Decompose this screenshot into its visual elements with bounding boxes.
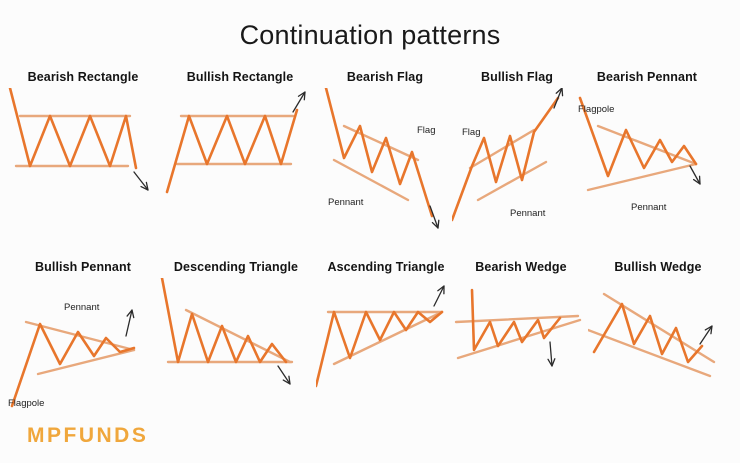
pattern-card-bearish-wedge: Bearish Wedge xyxy=(452,260,590,420)
price-path xyxy=(316,312,442,386)
trendline-descending-resistance xyxy=(186,310,290,362)
pattern-chart-bearish-flag: FlagPennant xyxy=(320,88,450,238)
pattern-chart-ascending-triangle xyxy=(316,278,456,428)
breakout-arrow-up xyxy=(554,88,563,108)
pattern-chart-bearish-wedge xyxy=(452,278,590,428)
pattern-chart-descending-triangle xyxy=(160,278,312,428)
breakout-arrow-up xyxy=(293,92,305,112)
pattern-card-bullish-flag: Bullish Flag FlagPennant xyxy=(452,70,582,230)
pattern-card-bearish-rectangle: Bearish Rectangle xyxy=(8,70,158,230)
breakout-arrow-down xyxy=(548,342,555,366)
trendline-lower-channel xyxy=(478,162,546,200)
annotation-flag: Flag xyxy=(462,127,480,138)
annotation-flagpole: Flagpole xyxy=(578,104,614,115)
pattern-chart-bullish-pennant: PennantFlagpole xyxy=(8,278,158,428)
pattern-title-bearish-pennant: Bearish Pennant xyxy=(574,70,720,84)
annotation-pennant: Pennant xyxy=(64,302,100,313)
pattern-title-descending-triangle: Descending Triangle xyxy=(160,260,312,274)
pattern-title-bearish-wedge: Bearish Wedge xyxy=(452,260,590,274)
brand-logo: MPFUNDS xyxy=(27,424,148,448)
pattern-title-ascending-triangle: Ascending Triangle xyxy=(316,260,456,274)
breakout-arrow-down xyxy=(278,366,290,384)
pattern-card-bullish-pennant: Bullish Pennant PennantFlagpole xyxy=(8,260,158,420)
pattern-card-bullish-rectangle: Bullish Rectangle xyxy=(165,70,315,230)
breakout-arrow-down xyxy=(690,166,700,184)
pattern-chart-bullish-flag: FlagPennant xyxy=(452,88,582,238)
price-path xyxy=(452,98,558,220)
price-path xyxy=(162,278,286,362)
price-path xyxy=(10,88,136,168)
pattern-title-bullish-pennant: Bullish Pennant xyxy=(8,260,158,274)
pattern-title-bullish-rectangle: Bullish Rectangle xyxy=(165,70,315,84)
breakout-arrow-up xyxy=(126,310,134,336)
pattern-title-bullish-wedge: Bullish Wedge xyxy=(588,260,728,274)
annotation-flagpole: Flagpole xyxy=(8,398,44,409)
breakout-arrow-up xyxy=(700,326,712,344)
pattern-card-bearish-flag: Bearish Flag FlagPennant xyxy=(320,70,450,230)
pattern-card-bullish-wedge: Bullish Wedge xyxy=(588,260,728,420)
pattern-card-descending-triangle: Descending Triangle xyxy=(160,260,312,420)
pattern-title-bearish-rectangle: Bearish Rectangle xyxy=(8,70,158,84)
trendline-upper-trendline xyxy=(598,126,696,164)
page-title: Continuation patterns xyxy=(0,20,740,51)
pattern-chart-bearish-rectangle xyxy=(8,88,158,238)
pattern-card-ascending-triangle: Ascending Triangle xyxy=(316,260,456,420)
pattern-card-bearish-pennant: Bearish Pennant FlagpolePennant xyxy=(574,70,720,230)
trendline-lower-trendline xyxy=(588,330,710,376)
trendline-lower-trendline xyxy=(458,320,580,358)
breakout-arrow-down xyxy=(134,172,148,190)
annotation-pennant: Pennant xyxy=(631,202,667,213)
annotation-pennant: Pennant xyxy=(510,208,546,219)
pattern-chart-bullish-rectangle xyxy=(165,88,315,238)
trendline-upper-channel xyxy=(344,126,418,160)
annotation-flag: Flag xyxy=(417,125,435,136)
pattern-title-bullish-flag: Bullish Flag xyxy=(452,70,582,84)
trendline-lower-trendline xyxy=(38,350,134,374)
pattern-title-bearish-flag: Bearish Flag xyxy=(320,70,450,84)
pattern-chart-bullish-wedge xyxy=(588,278,728,428)
infographic-root: Continuation patterns Bearish Rectangle … xyxy=(0,0,740,463)
price-path xyxy=(167,110,297,192)
breakout-arrow-up xyxy=(434,286,444,306)
annotation-pennant: Pennant xyxy=(328,197,364,208)
pattern-chart-bearish-pennant: FlagpolePennant xyxy=(574,88,720,238)
